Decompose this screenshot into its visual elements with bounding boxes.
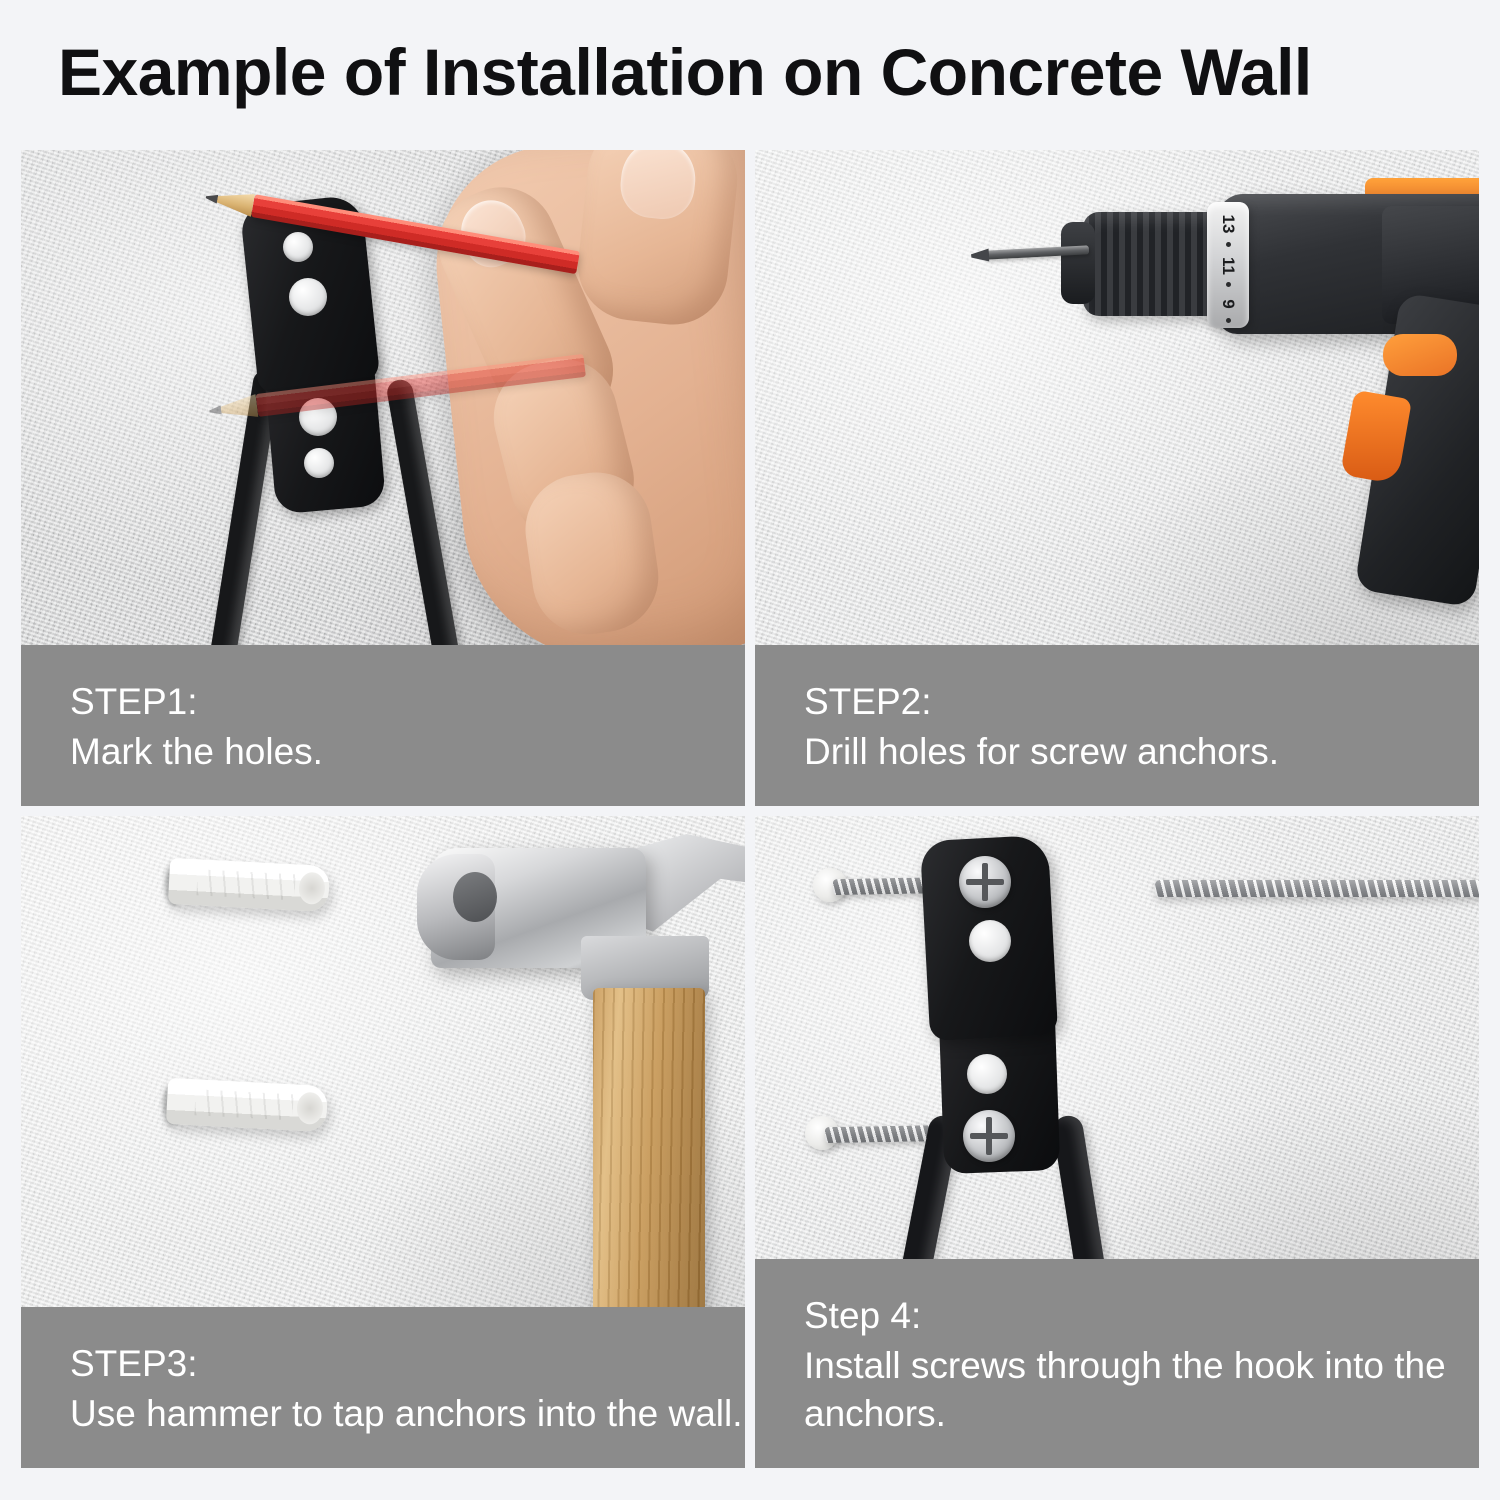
- step-card-4: Step 4: Install screws through the hook …: [755, 816, 1479, 1468]
- step-1-caption: STEP1: Mark the holes.: [21, 645, 745, 806]
- mounting-hole-2: [289, 278, 327, 316]
- step-card-1: STEP1: Mark the holes.: [21, 150, 745, 806]
- step-1-instruction: Mark the holes.: [70, 728, 745, 776]
- step-4-label: Step 4:: [804, 1292, 1479, 1340]
- page-title: Example of Installation on Concrete Wall: [58, 27, 1458, 117]
- step-card-3: STEP3: Use hammer to tap anchors into th…: [21, 816, 745, 1468]
- step-4-caption: Step 4: Install screws through the hook …: [755, 1259, 1479, 1468]
- step-3-instruction: Use hammer to tap anchors into the wall.: [70, 1390, 745, 1438]
- hammer-face-bevel: [453, 872, 497, 922]
- white-wall-anchor-upper: [168, 858, 330, 912]
- mounting-hole-1: [283, 232, 313, 262]
- installation-guide-page: Example of Installation on Concrete Wall: [0, 0, 1500, 1500]
- screwdriver-shaft: [1155, 880, 1479, 897]
- drill-mode-button: [1383, 334, 1457, 376]
- thumb: [573, 150, 743, 330]
- cordless-drill: 13 11 9: [1047, 170, 1479, 600]
- drill-chuck-nose: [1061, 222, 1095, 304]
- step-card-2: 13 11 9 STEP2: Drill holes for screw anc…: [755, 150, 1479, 806]
- step-3-label: STEP3:: [70, 1340, 745, 1388]
- screw-head-lower: [963, 1110, 1015, 1162]
- steps-grid: STEP1: Mark the holes.: [21, 150, 1479, 1468]
- white-wall-anchor-lower: [166, 1078, 328, 1132]
- torque-dot: [1226, 318, 1231, 323]
- step-2-caption: STEP2: Drill holes for screw anchors.: [755, 645, 1479, 806]
- torque-collar: 13 11 9: [1207, 202, 1249, 328]
- mounting-hole-open-upper: [969, 920, 1011, 962]
- torque-value-13: 13: [1218, 203, 1238, 245]
- step-3-caption: STEP3: Use hammer to tap anchors into th…: [21, 1307, 745, 1468]
- torque-value-11: 11: [1218, 245, 1238, 287]
- step-2-label: STEP2:: [804, 678, 1479, 726]
- screw-head-upper: [959, 856, 1011, 908]
- finger-ring: [518, 465, 665, 641]
- step-2-instruction: Drill holes for screw anchors.: [804, 728, 1479, 776]
- mounting-hole-4: [304, 448, 334, 478]
- step-4-instruction: Install screws through the hook into the…: [804, 1342, 1479, 1438]
- step-1-label: STEP1:: [70, 678, 745, 726]
- thumbnail: [617, 150, 699, 222]
- mounting-hole-open-lower: [967, 1054, 1007, 1094]
